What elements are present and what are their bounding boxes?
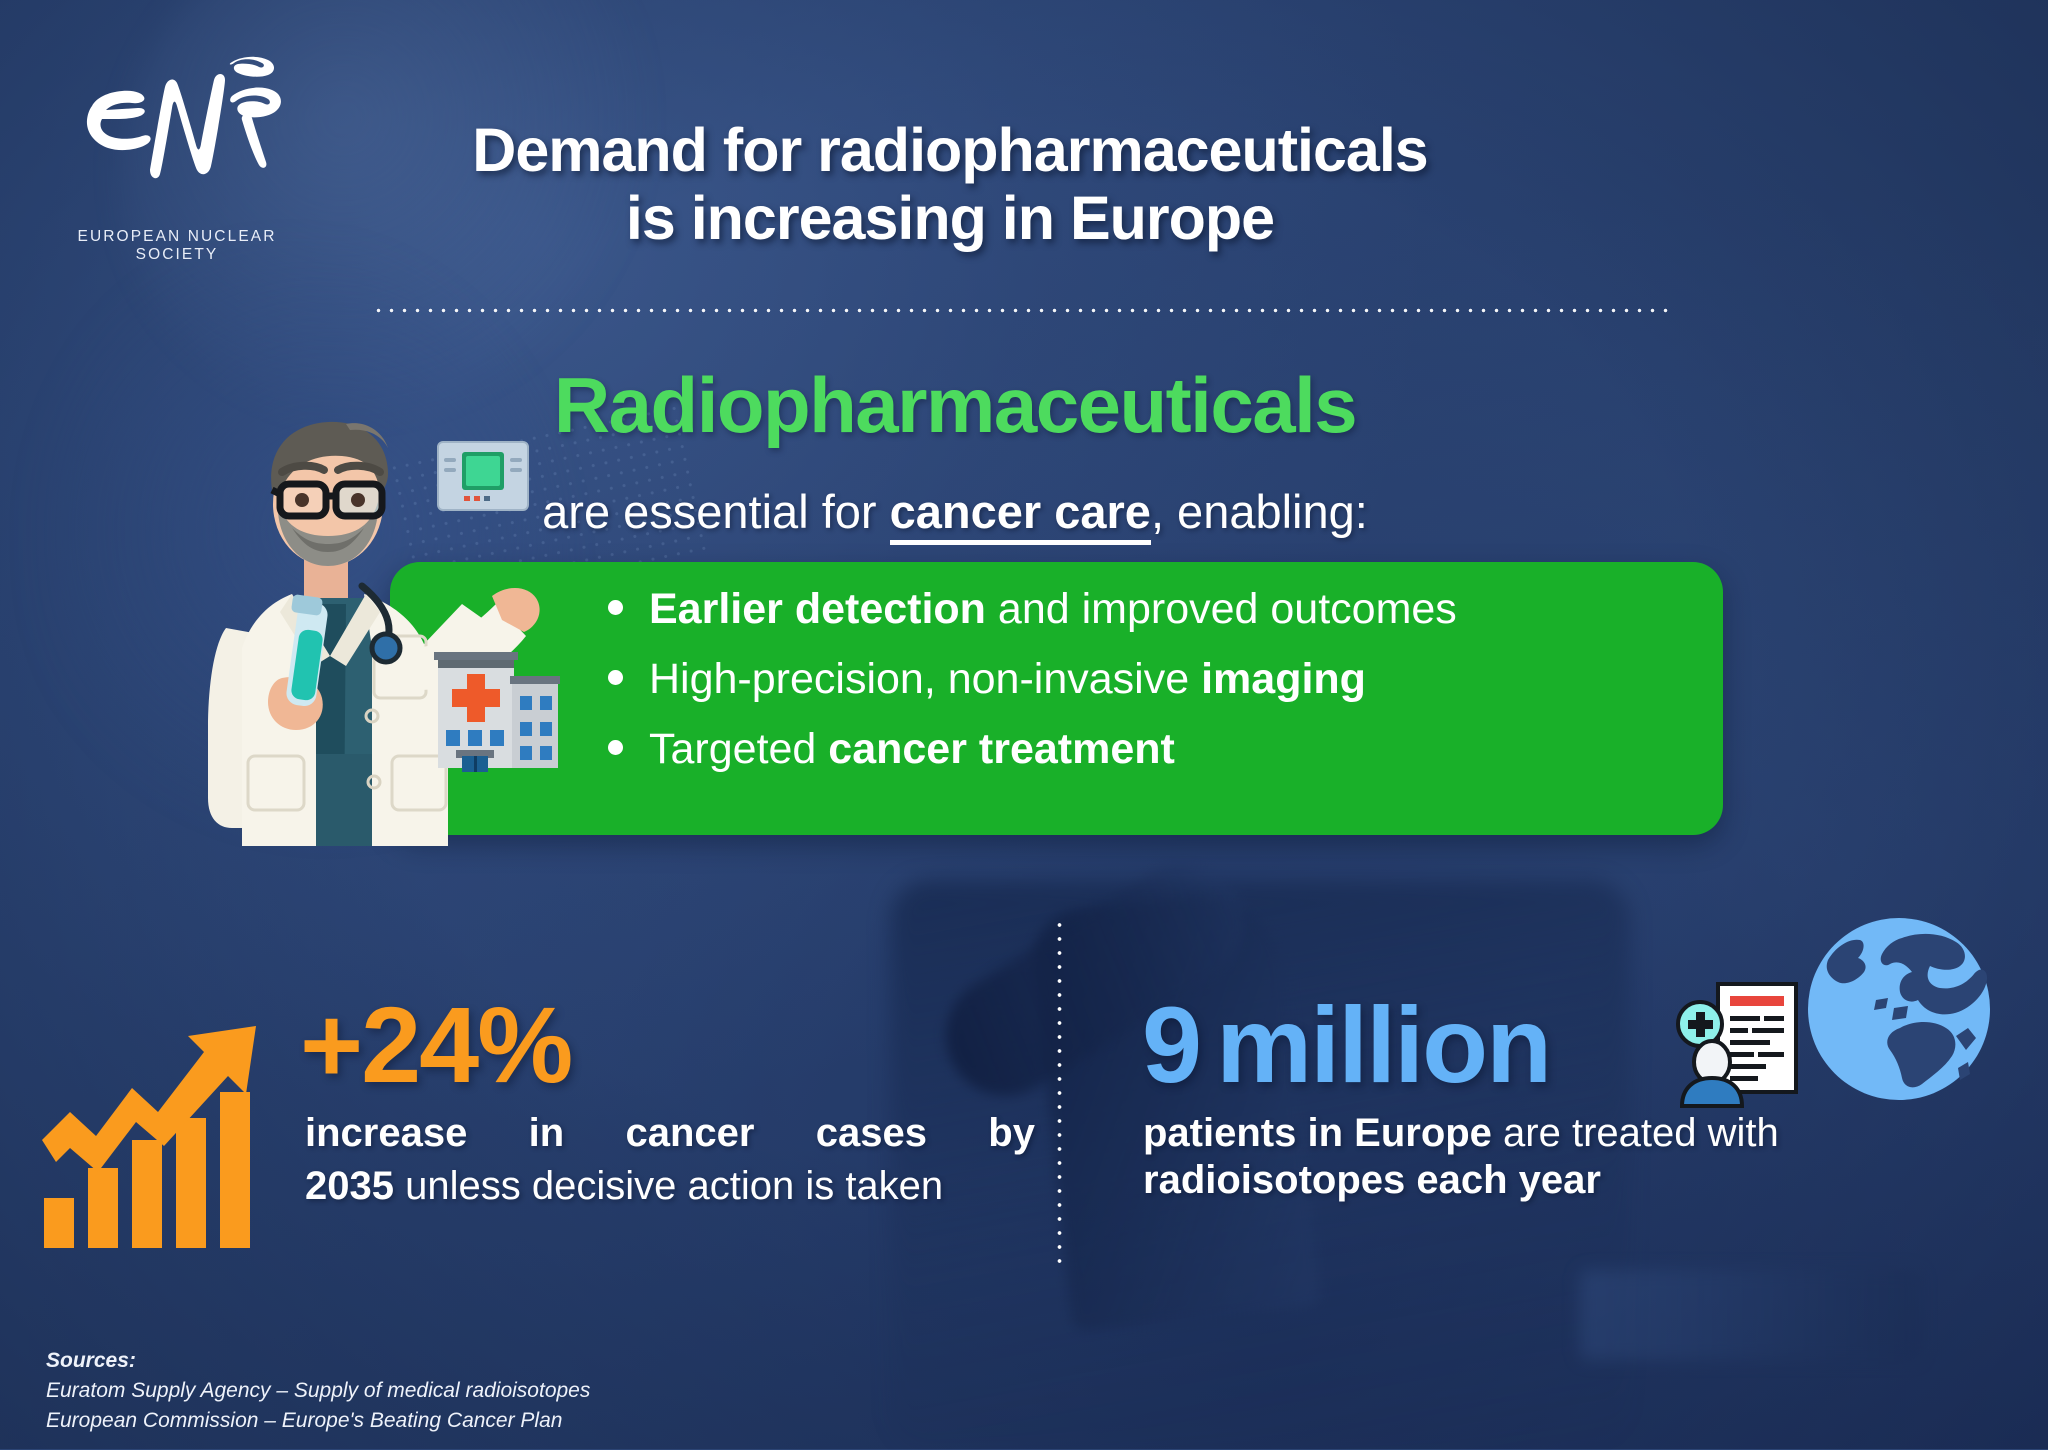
list-item-lead: High-precision, non-invasive <box>649 655 1201 703</box>
subtitle-after: , enabling: <box>1151 485 1368 538</box>
growth-chart-icon <box>36 1000 264 1248</box>
list-item-label: High-precision, non-invasive imaging <box>649 658 1366 701</box>
page-title-line-2: is increasing in Europe <box>330 184 1570 252</box>
stat-word: increase <box>305 1110 467 1157</box>
horizontal-dotted-divider <box>372 308 1672 313</box>
logo-caption: EUROPEAN NUCLEAR SOCIETY <box>46 228 308 264</box>
list-item-lead: Targeted <box>649 725 828 773</box>
stat-description-bold: patients in Europe <box>1143 1111 1492 1155</box>
page-title-line-1: Demand for radiopharmaceuticals <box>330 116 1570 184</box>
patient-record-icon <box>1672 978 1822 1108</box>
source-item: Euratom Supply Agency – Supply of medica… <box>46 1376 946 1406</box>
list-item-bold: cancer treatment <box>828 725 1175 773</box>
sources-block: Sources: Euratom Supply Agency – Supply … <box>46 1346 946 1435</box>
list-item: High-precision, non-invasive imaging <box>608 658 1718 701</box>
bullet-dot-icon <box>608 740 623 755</box>
list-item-label: Targeted cancer treatment <box>649 728 1175 771</box>
imaging-device-icon <box>436 440 530 512</box>
stat-description-line-1: patients in Europe are treated with <box>1143 1110 1943 1157</box>
bullet-dot-icon <box>608 670 623 685</box>
stat-unit: million <box>1216 984 1550 1105</box>
stat-description-bold-2: radioisotopes each year <box>1143 1158 1601 1202</box>
stat-description-rest: unless decisive action is taken <box>394 1164 943 1208</box>
stat-description-line-2: radioisotopes each year <box>1143 1157 1943 1204</box>
globe-icon <box>1806 916 1992 1102</box>
stat-description-cancer-cases: increase in cancer cases by 2035 unless … <box>305 1110 1045 1210</box>
list-item: Targeted cancer treatment <box>608 728 1718 771</box>
list-item-rest: and improved outcomes <box>986 585 1457 633</box>
subtitle-emphasis: cancer care <box>890 485 1151 545</box>
stat-word: in <box>529 1110 565 1157</box>
stat-word: by <box>988 1110 1035 1157</box>
list-item: Earlier detection and improved outcomes <box>608 588 1718 631</box>
stat-description-patients-treated: patients in Europe are treated with radi… <box>1143 1110 1943 1204</box>
page-title: Demand for radiopharmaceuticals is incre… <box>330 116 1570 253</box>
stat-value-patients-treated: 9million <box>1142 982 1550 1107</box>
hospital-icon <box>432 640 562 772</box>
bullet-dot-icon <box>608 600 623 615</box>
stat-number: 9 <box>1142 984 1200 1105</box>
stat-word: cases <box>816 1110 927 1157</box>
stat-year: 2035 <box>305 1164 394 1208</box>
stat-description-line-2: 2035 unless decisive action is taken <box>305 1163 1045 1210</box>
stat-description-rest: are treated with <box>1492 1111 1779 1155</box>
vertical-dotted-divider <box>1057 918 1062 1270</box>
subtitle-before: are essential for <box>542 485 889 538</box>
sources-label: Sources: <box>46 1346 946 1376</box>
stat-description-line-1: increase in cancer cases by <box>305 1110 1035 1157</box>
list-item-bold: imaging <box>1201 655 1366 703</box>
list-item-label: Earlier detection and improved outcomes <box>649 588 1457 631</box>
ens-logo <box>46 44 306 199</box>
stat-word: cancer <box>625 1110 754 1157</box>
stat-value-cancer-cases: +24% <box>300 982 571 1107</box>
source-item: European Commission – Europe's Beating C… <box>46 1406 946 1436</box>
benefits-list: Earlier detection and improved outcomes … <box>608 588 1718 798</box>
list-item-bold: Earlier detection <box>649 585 986 633</box>
